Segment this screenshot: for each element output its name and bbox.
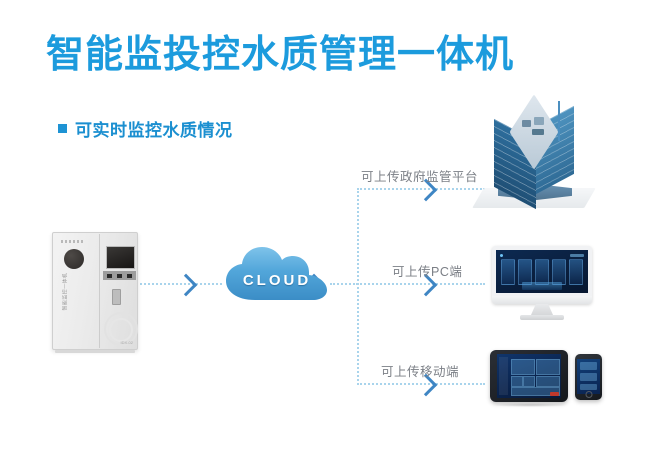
- dashboard-footer-panel: [522, 282, 562, 290]
- branch-label-pc: 可上传PC端: [392, 261, 462, 280]
- chevron-right-icon: [175, 274, 198, 297]
- monitor-stand-base: [520, 315, 564, 320]
- phone-screen: [577, 359, 600, 394]
- branch-label-mobile: 可上传移动端: [381, 361, 459, 380]
- machine-coil-inner-icon: [109, 318, 133, 342]
- phone-card: [580, 362, 597, 370]
- square-bullet-icon: [58, 124, 67, 133]
- cloud-node[interactable]: CLOUD: [222, 245, 332, 307]
- cloud-label: CLOUD: [222, 272, 332, 289]
- government-building-icon[interactable]: [470, 104, 600, 224]
- subtitle-row: 可实时监控水质情况: [58, 116, 233, 141]
- tablet-sidebar: [499, 357, 508, 395]
- tablet-tile: [536, 376, 560, 387]
- tablet-phone-icon[interactable]: [490, 348, 605, 410]
- machine-door-seam: [99, 234, 100, 348]
- machine-button-3[interactable]: [127, 274, 132, 278]
- phone-device[interactable]: [575, 354, 602, 400]
- machine-brand-mark-icon: [61, 240, 83, 243]
- dashboard-card: [501, 259, 515, 285]
- dashboard-card: [569, 259, 583, 285]
- branch-trunk-line: [357, 188, 359, 385]
- tablet-alert-badge: [550, 392, 559, 396]
- branch-label-government: 可上传政府监管平台: [361, 166, 478, 185]
- monitor-screen: [496, 250, 588, 293]
- device-shadow: [492, 403, 568, 407]
- phone-card: [580, 384, 597, 390]
- tablet-tile: [511, 359, 535, 375]
- desktop-monitor-icon[interactable]: [492, 246, 592, 324]
- dashboard-title-chip: [570, 254, 584, 257]
- dashboard-topbar: [500, 253, 584, 257]
- connector-cloud-to-trunk: [330, 283, 358, 285]
- roof-unit-b-icon: [534, 117, 544, 125]
- machine-model-label: IDX-02: [121, 340, 133, 345]
- monitor-chin: [492, 296, 592, 304]
- tablet-tile: [511, 376, 523, 387]
- tablet-device[interactable]: [490, 350, 568, 402]
- tablet-screen: [497, 354, 561, 398]
- tablet-tile: [523, 376, 535, 387]
- machine-button-2[interactable]: [117, 274, 122, 278]
- machine-base: [55, 350, 135, 353]
- machine-button-bar[interactable]: [103, 271, 136, 280]
- machine-handle-icon: [112, 289, 121, 305]
- antenna-icon: [558, 101, 560, 141]
- roof-unit-c-icon: [532, 129, 544, 135]
- slide-canvas: 智能监投控水质管理一体机 可实时监控水质情况 可上传政府监管平台 可上传PC端 …: [0, 0, 650, 450]
- phone-card: [580, 373, 597, 381]
- phone-home-button-icon[interactable]: [585, 391, 592, 398]
- page-title: 智能监投控水质管理一体机: [46, 36, 514, 74]
- machine-display-screen: [106, 246, 135, 269]
- roof-unit-a-icon: [522, 120, 531, 127]
- subtitle-text: 可实时监控水质情况: [75, 116, 233, 141]
- dashboard-status-dot-icon: [500, 254, 503, 257]
- machine-button-1[interactable]: [107, 274, 112, 278]
- machine-vertical-label: 智能监控一体机: [62, 265, 69, 311]
- monitor-stand-neck: [531, 304, 553, 315]
- water-quality-machine[interactable]: 智能监控一体机 IDX-02: [52, 232, 138, 350]
- tablet-tile: [536, 359, 560, 375]
